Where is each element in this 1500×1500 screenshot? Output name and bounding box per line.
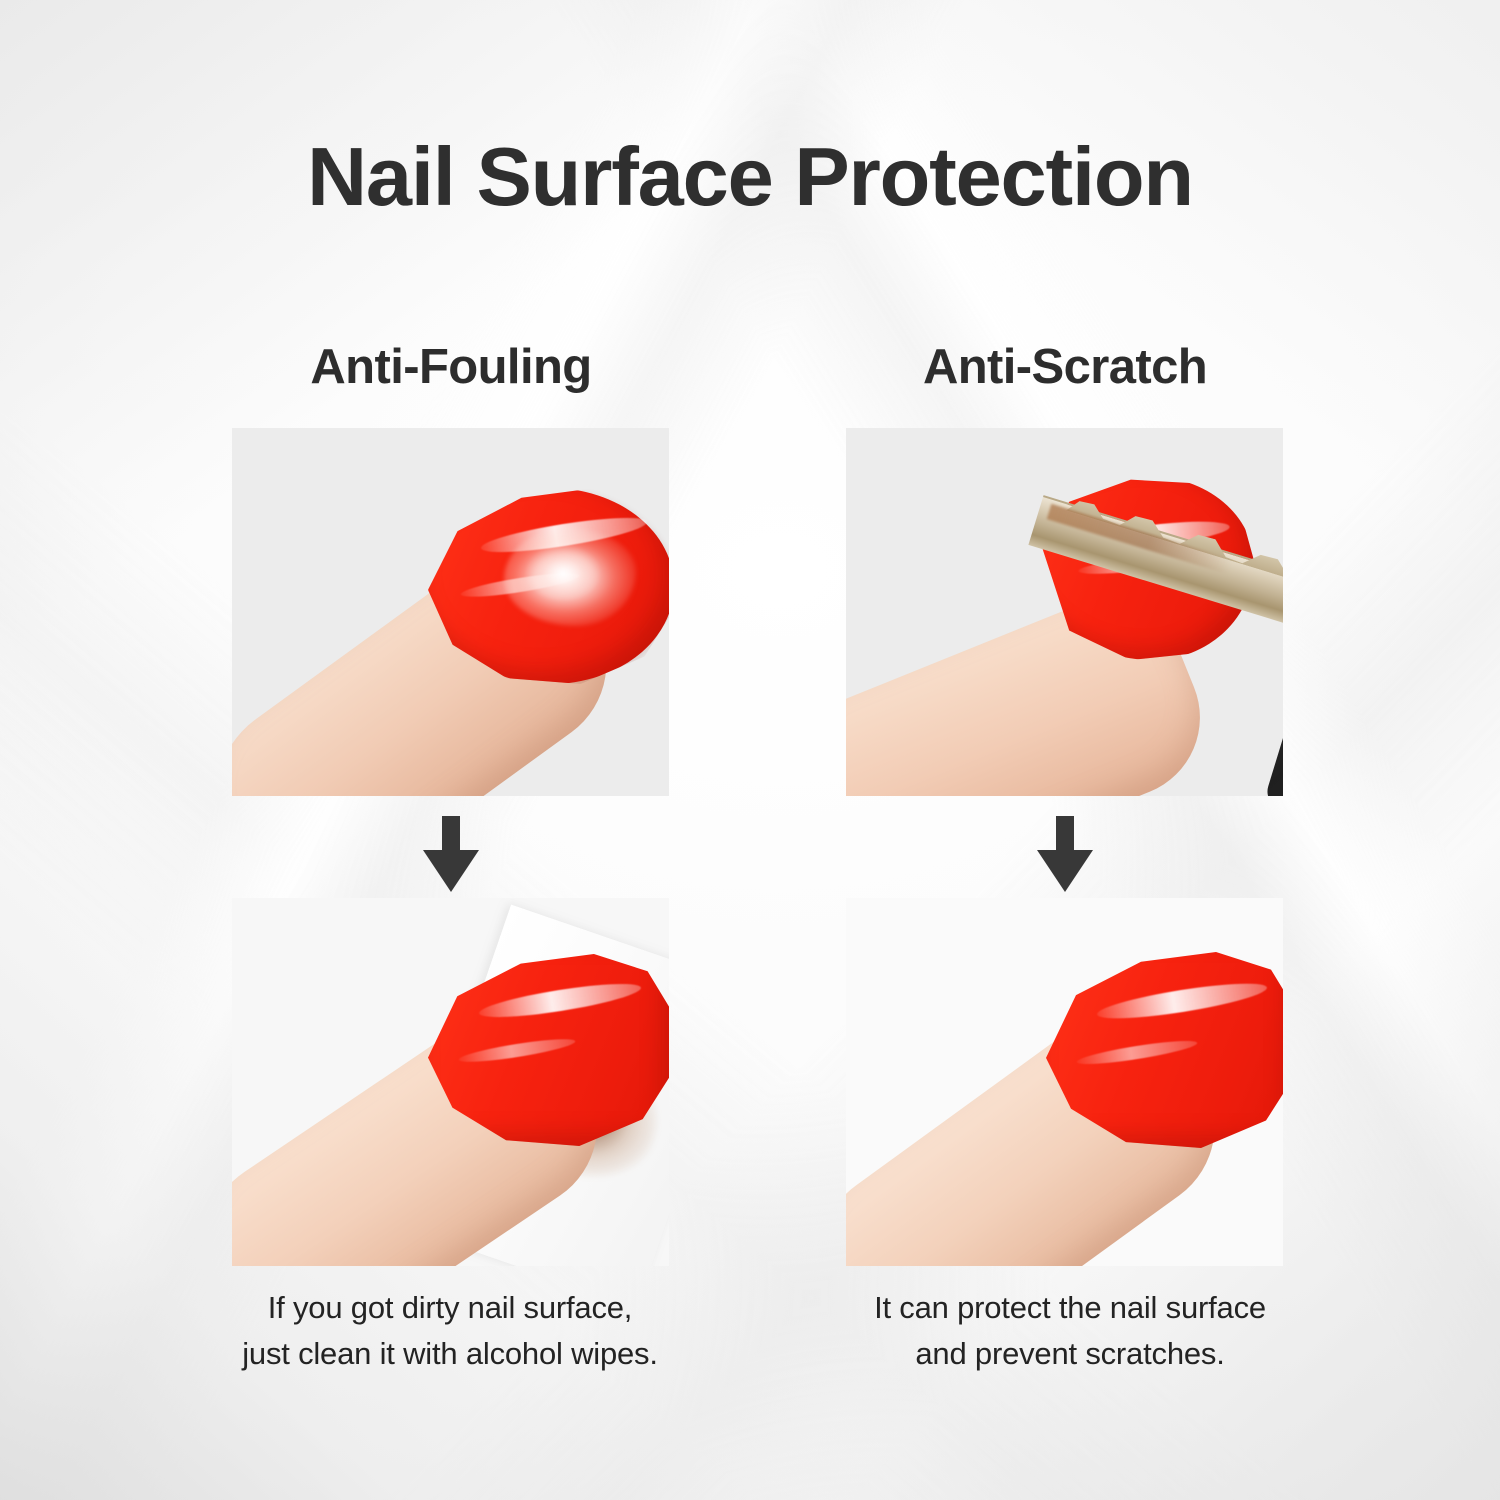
down-arrow-icon (423, 816, 479, 892)
arrow-head (423, 850, 479, 892)
infographic-page: Nail Surface Protection Anti-Fouling Ant… (0, 0, 1500, 1500)
page-title: Nail Surface Protection (0, 133, 1500, 220)
column-heading-anti-scratch: Anti-Scratch (845, 339, 1285, 395)
caption-line: just clean it with alcohol wipes. (190, 1331, 710, 1377)
dirt-smudge-core (524, 544, 602, 602)
key-scratching-nail-photo: 100 (846, 428, 1283, 796)
caption-line: and prevent scratches. (810, 1331, 1330, 1377)
down-arrow-icon (1037, 816, 1093, 892)
clean-nail-with-alcohol-wipe-photo (232, 898, 669, 1266)
caption-anti-fouling: If you got dirty nail surface, just clea… (190, 1285, 710, 1377)
caption-anti-scratch: It can protect the nail surface and prev… (810, 1285, 1330, 1377)
arrow-head (1037, 850, 1093, 892)
caption-line: If you got dirty nail surface, (190, 1285, 710, 1331)
caption-line: It can protect the nail surface (810, 1285, 1330, 1331)
unscratched-red-nail-photo (846, 898, 1283, 1266)
column-heading-anti-fouling: Anti-Fouling (231, 339, 671, 395)
dirty-red-nail-photo (232, 428, 669, 796)
